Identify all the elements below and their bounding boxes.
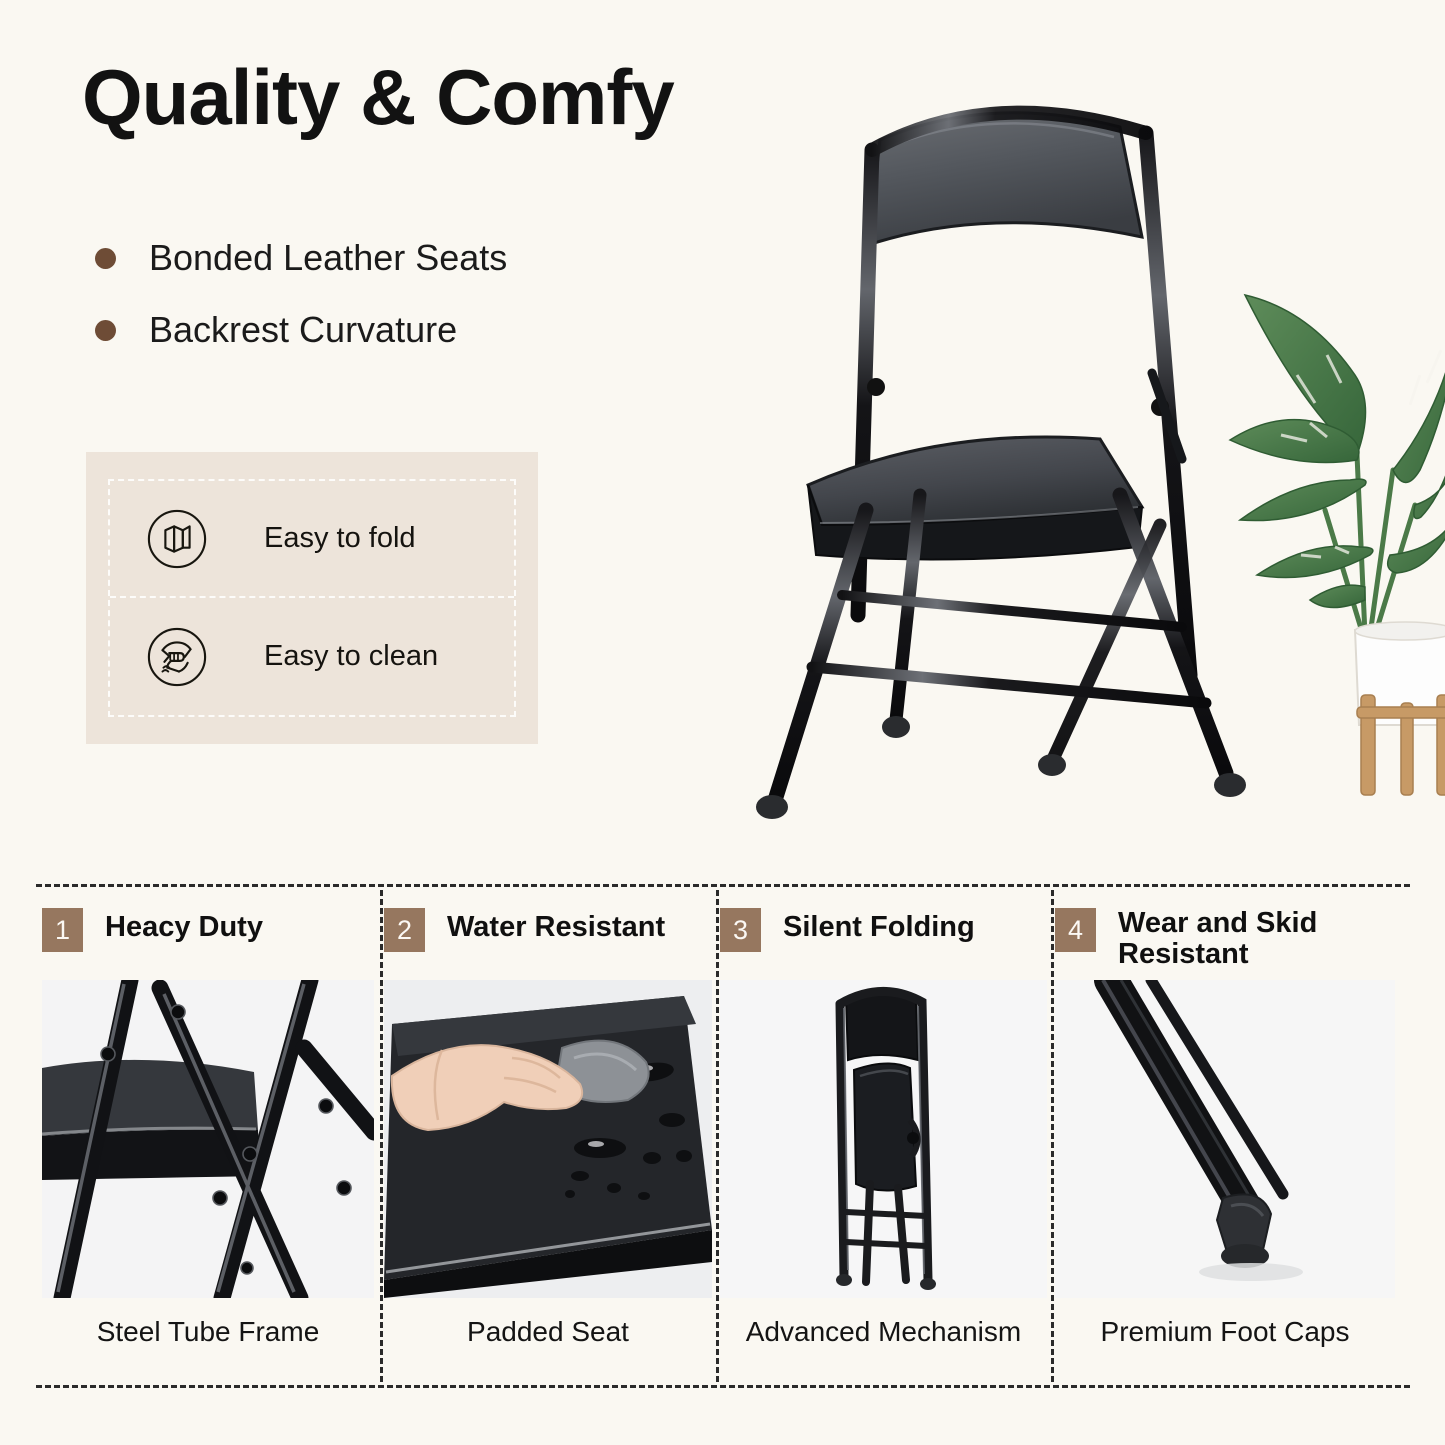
wipe-hand-icon xyxy=(146,626,208,688)
feature-cell-wear-skid-resistant: 4 Wear and Skid Resistant Premium Foot C… xyxy=(1055,896,1395,1382)
feature-cell-water-resistant: 2 Water Resistant xyxy=(384,896,712,1382)
cell-photo-foot-cap xyxy=(1055,980,1395,1298)
fold-map-icon xyxy=(146,508,208,570)
cell-header: 1 Heacy Duty xyxy=(42,896,374,980)
bullet-dot-icon xyxy=(95,248,116,269)
cell-header: 2 Water Resistant xyxy=(384,896,712,980)
dashed-inner-border: Easy to fold Easy to xyxy=(108,479,516,717)
feature-label: Easy to fold xyxy=(264,522,416,555)
cell-caption: Premium Foot Caps xyxy=(1055,1316,1395,1348)
cell-photo-folded-chair xyxy=(720,980,1047,1298)
decorative-plant-photo xyxy=(1215,255,1445,800)
cell-title: Silent Folding xyxy=(783,908,975,943)
number-badge: 4 xyxy=(1055,908,1096,952)
bullet-dot-icon xyxy=(95,320,116,341)
section-divider-bottom xyxy=(36,1385,1410,1388)
number-badge: 1 xyxy=(42,908,83,952)
feature-cell-silent-folding: 3 Silent Folding xyxy=(720,896,1047,1382)
cell-caption: Advanced Mechanism xyxy=(720,1316,1047,1348)
cell-header: 4 Wear and Skid Resistant xyxy=(1055,896,1395,980)
cell-header: 3 Silent Folding xyxy=(720,896,1047,980)
easy-features-panel: Easy to fold Easy to xyxy=(86,452,538,744)
list-item: Bonded Leather Seats xyxy=(95,222,655,294)
feature-cell-heavy-duty: 1 Heacy Duty xyxy=(42,896,374,1382)
cell-caption: Steel Tube Frame xyxy=(42,1316,374,1348)
cell-title: Heacy Duty xyxy=(105,908,263,943)
cell-title: Wear and Skid Resistant xyxy=(1118,908,1395,971)
feature-row-clean: Easy to clean xyxy=(110,598,514,715)
section-divider-top xyxy=(36,884,1410,887)
bullet-label: Backrest Curvature xyxy=(149,309,457,351)
number-badge: 3 xyxy=(720,908,761,952)
cell-photo-water-wipe xyxy=(384,980,712,1298)
infographic-page: Quality & Comfy Bonded Leather Seats Bac… xyxy=(0,0,1445,1445)
feature-label: Easy to clean xyxy=(264,640,438,673)
cell-caption: Padded Seat xyxy=(384,1316,712,1348)
number-badge: 2 xyxy=(384,908,425,952)
panel-divider xyxy=(716,890,719,1382)
bullet-label: Bonded Leather Seats xyxy=(149,237,507,279)
panel-divider xyxy=(380,890,383,1382)
page-title: Quality & Comfy xyxy=(82,52,674,143)
feature-bullet-list: Bonded Leather Seats Backrest Curvature xyxy=(95,222,655,366)
feature-row-fold: Easy to fold xyxy=(110,481,514,598)
cell-photo-steel-frame xyxy=(42,980,374,1298)
list-item: Backrest Curvature xyxy=(95,294,655,366)
panel-divider xyxy=(1051,890,1054,1382)
cell-title: Water Resistant xyxy=(447,908,665,943)
